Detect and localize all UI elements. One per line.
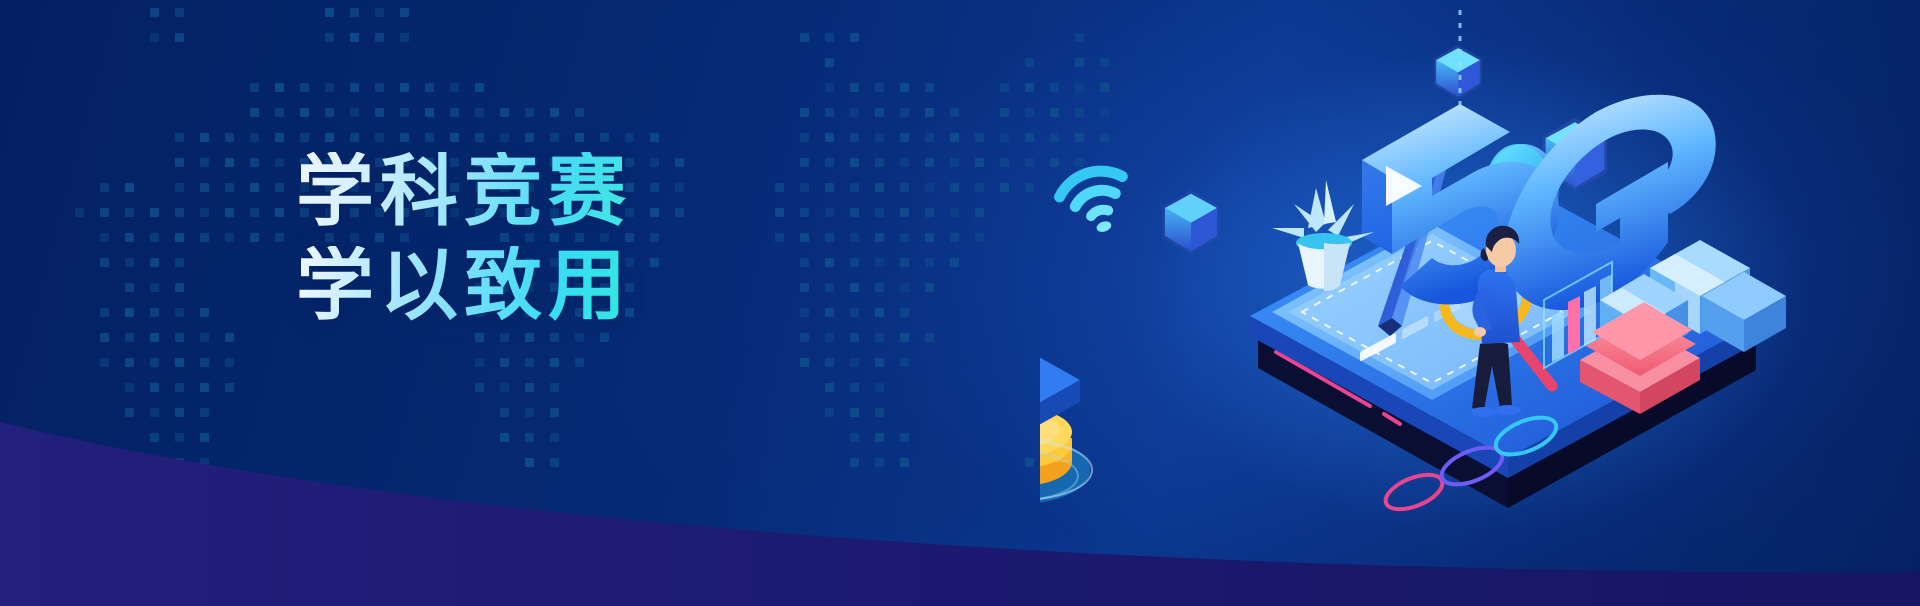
map-dot <box>875 133 884 142</box>
map-dot <box>900 208 909 217</box>
map-dot <box>925 283 934 292</box>
map-dot <box>825 58 834 67</box>
chart-bar <box>1568 296 1580 354</box>
map-dot <box>850 333 859 342</box>
map-dot <box>200 183 209 192</box>
map-dot <box>650 158 659 167</box>
map-dot <box>325 108 334 117</box>
map-dot <box>475 108 484 117</box>
map-dot <box>325 83 334 92</box>
map-dot <box>400 108 409 117</box>
map-dot <box>525 358 534 367</box>
map-dot <box>925 108 934 117</box>
map-dot <box>275 233 284 242</box>
map-dot <box>825 33 834 42</box>
map-dot <box>200 158 209 167</box>
map-dot <box>375 133 384 142</box>
coin-stack <box>1040 408 1092 504</box>
map-dot <box>800 358 809 367</box>
map-dot <box>325 33 334 42</box>
map-dot <box>450 108 459 117</box>
map-dot <box>175 233 184 242</box>
map-dot <box>250 158 259 167</box>
map-dot <box>900 158 909 167</box>
map-dot <box>875 233 884 242</box>
map-dot <box>950 233 959 242</box>
map-dot <box>1000 158 1009 167</box>
map-dot <box>200 358 209 367</box>
map-dot <box>125 283 134 292</box>
map-dot <box>800 283 809 292</box>
map-dot <box>250 133 259 142</box>
map-dot <box>800 108 809 117</box>
wifi-icon <box>1055 163 1137 241</box>
map-dot <box>150 358 159 367</box>
headline-line-2: 学以致用 <box>296 246 632 324</box>
map-dot <box>100 233 109 242</box>
map-dot <box>800 208 809 217</box>
map-dot <box>900 133 909 142</box>
chart-bar <box>1552 310 1564 362</box>
map-dot <box>100 208 109 217</box>
map-dot <box>900 308 909 317</box>
map-dot <box>850 258 859 267</box>
map-dot <box>150 33 159 42</box>
map-dot <box>925 83 934 92</box>
map-dot <box>600 133 609 142</box>
map-dot <box>1000 108 1009 117</box>
map-dot <box>925 208 934 217</box>
map-dot <box>400 133 409 142</box>
map-dot <box>575 108 584 117</box>
map-dot <box>175 333 184 342</box>
map-dot <box>425 108 434 117</box>
map-dot <box>225 333 234 342</box>
map-dot <box>875 108 884 117</box>
map-dot <box>825 233 834 242</box>
map-dot <box>825 283 834 292</box>
map-dot <box>350 8 359 17</box>
map-dot <box>850 158 859 167</box>
map-dot <box>825 333 834 342</box>
map-dot <box>275 83 284 92</box>
map-dot <box>850 233 859 242</box>
map-dot <box>175 8 184 17</box>
map-dot <box>275 108 284 117</box>
map-dot <box>975 133 984 142</box>
map-dot <box>475 333 484 342</box>
map-dot <box>900 333 909 342</box>
map-dot <box>225 233 234 242</box>
map-dot <box>900 183 909 192</box>
map-dot <box>775 183 784 192</box>
map-dot <box>100 333 109 342</box>
map-dot <box>1025 108 1034 117</box>
map-dot <box>175 258 184 267</box>
map-dot <box>475 133 484 142</box>
map-dot <box>900 258 909 267</box>
map-dot <box>975 183 984 192</box>
map-dot <box>500 133 509 142</box>
map-dot <box>650 183 659 192</box>
map-dot <box>875 333 884 342</box>
map-dot <box>125 308 134 317</box>
map-dot <box>100 183 109 192</box>
map-dot <box>375 108 384 117</box>
map-dot <box>650 208 659 217</box>
map-dot <box>175 283 184 292</box>
map-dot <box>350 83 359 92</box>
map-dot <box>550 333 559 342</box>
map-dot <box>650 133 659 142</box>
map-dot <box>450 133 459 142</box>
map-dot <box>175 33 184 42</box>
map-dot <box>850 83 859 92</box>
map-dot <box>150 8 159 17</box>
map-dot <box>925 333 934 342</box>
map-dot <box>800 308 809 317</box>
map-dot <box>1000 133 1009 142</box>
map-dot <box>900 108 909 117</box>
map-dot <box>250 208 259 217</box>
map-dot <box>1025 183 1034 192</box>
map-dot <box>775 233 784 242</box>
map-dot <box>400 8 409 17</box>
map-dot <box>175 158 184 167</box>
map-dot <box>950 183 959 192</box>
map-dot <box>900 283 909 292</box>
map-dot <box>550 358 559 367</box>
map-dot <box>875 358 884 367</box>
map-dot <box>250 183 259 192</box>
map-dot <box>850 108 859 117</box>
map-dot <box>800 133 809 142</box>
map-dot <box>525 108 534 117</box>
map-dot <box>875 158 884 167</box>
map-dot <box>375 83 384 92</box>
map-dot <box>225 158 234 167</box>
map-dot <box>300 83 309 92</box>
map-dot <box>650 233 659 242</box>
map-dot <box>675 158 684 167</box>
map-dot <box>175 183 184 192</box>
map-dot <box>375 8 384 17</box>
map-dot <box>825 83 834 92</box>
map-dot <box>850 133 859 142</box>
map-dot <box>150 333 159 342</box>
map-dot <box>1025 83 1034 92</box>
map-dot <box>125 233 134 242</box>
map-dot <box>325 8 334 17</box>
map-dot <box>825 183 834 192</box>
map-dot <box>150 283 159 292</box>
map-dot <box>1025 133 1034 142</box>
map-dot <box>125 358 134 367</box>
map-dot <box>350 108 359 117</box>
map-dot <box>800 183 809 192</box>
map-dot <box>775 208 784 217</box>
map-dot <box>575 358 584 367</box>
map-dot <box>300 133 309 142</box>
map-dot <box>500 108 509 117</box>
map-dot <box>950 133 959 142</box>
map-dot <box>675 208 684 217</box>
map-dot <box>200 233 209 242</box>
map-dot <box>175 308 184 317</box>
shoe <box>1471 407 1497 417</box>
map-dot <box>125 208 134 217</box>
map-dot <box>350 33 359 42</box>
map-dot <box>425 133 434 142</box>
map-dot <box>975 158 984 167</box>
map-dot <box>175 208 184 217</box>
map-dot <box>875 208 884 217</box>
map-dot <box>475 358 484 367</box>
map-dot <box>800 333 809 342</box>
map-dot <box>950 208 959 217</box>
map-dot <box>675 183 684 192</box>
map-dot <box>550 108 559 117</box>
map-dot <box>875 258 884 267</box>
map-dot <box>1000 83 1009 92</box>
map-dot <box>1000 183 1009 192</box>
map-dot <box>850 358 859 367</box>
map-dot <box>950 108 959 117</box>
map-dot <box>500 358 509 367</box>
map-dot <box>900 83 909 92</box>
headline-line-1: 学科竞赛 <box>296 152 632 230</box>
map-dot <box>100 258 109 267</box>
map-dot <box>850 183 859 192</box>
map-dot <box>150 208 159 217</box>
isometric-illustration <box>1040 0 1920 606</box>
map-dot <box>975 233 984 242</box>
map-dot <box>150 308 159 317</box>
map-dot <box>825 158 834 167</box>
map-dot <box>625 133 634 142</box>
map-dot <box>925 183 934 192</box>
map-dot <box>175 133 184 142</box>
map-dot <box>275 208 284 217</box>
map-dot <box>575 333 584 342</box>
map-dot <box>925 258 934 267</box>
map-dot <box>200 208 209 217</box>
map-dot <box>1025 58 1034 67</box>
map-dot <box>175 358 184 367</box>
map-dot <box>875 308 884 317</box>
map-dot <box>75 208 84 217</box>
map-dot <box>900 358 909 367</box>
map-dot <box>850 208 859 217</box>
map-dot <box>950 258 959 267</box>
map-dot <box>875 183 884 192</box>
map-dot <box>825 133 834 142</box>
map-dot <box>925 158 934 167</box>
map-dot <box>550 133 559 142</box>
chart-bar <box>1584 286 1596 346</box>
map-dot <box>850 33 859 42</box>
map-dot <box>800 158 809 167</box>
map-dot <box>650 258 659 267</box>
map-dot <box>800 233 809 242</box>
map-dot <box>950 158 959 167</box>
map-dot <box>825 258 834 267</box>
map-dot <box>100 308 109 317</box>
map-dot <box>150 258 159 267</box>
map-dot <box>800 258 809 267</box>
map-dot <box>850 283 859 292</box>
map-dot <box>900 233 909 242</box>
map-dot <box>400 33 409 42</box>
map-dot <box>825 208 834 217</box>
map-dot <box>850 308 859 317</box>
map-dot <box>825 308 834 317</box>
map-dot <box>800 33 809 42</box>
map-dot <box>575 133 584 142</box>
map-dot <box>875 283 884 292</box>
map-dot <box>150 233 159 242</box>
map-dot <box>200 133 209 142</box>
map-dot <box>100 358 109 367</box>
map-dot <box>400 83 409 92</box>
map-dot <box>225 183 234 192</box>
map-dot <box>275 133 284 142</box>
hand <box>1474 327 1486 337</box>
map-dot <box>925 133 934 142</box>
map-dot <box>250 83 259 92</box>
map-dot <box>975 208 984 217</box>
map-dot <box>275 183 284 192</box>
headline-block: 学科竞赛 学以致用 <box>296 152 632 324</box>
map-dot <box>525 133 534 142</box>
map-dot <box>825 108 834 117</box>
map-dot <box>225 133 234 142</box>
map-dot <box>925 233 934 242</box>
map-dot <box>125 258 134 267</box>
map-dot <box>600 333 609 342</box>
map-dot <box>275 158 284 167</box>
map-dot <box>325 133 334 142</box>
map-dot <box>500 333 509 342</box>
map-dot <box>125 333 134 342</box>
map-dot <box>1025 158 1034 167</box>
map-dot <box>300 108 309 117</box>
map-dot <box>475 83 484 92</box>
map-dot <box>375 33 384 42</box>
map-dot <box>875 83 884 92</box>
map-dot <box>350 133 359 142</box>
map-dot <box>200 308 209 317</box>
promo-banner: 学科竞赛 学以致用 <box>0 0 1920 606</box>
map-dot <box>525 333 534 342</box>
map-dot <box>225 358 234 367</box>
map-dot <box>450 83 459 92</box>
map-dot <box>250 108 259 117</box>
map-dot <box>425 83 434 92</box>
map-dot <box>125 183 134 192</box>
map-dot <box>200 333 209 342</box>
map-dot <box>225 208 234 217</box>
map-dot <box>250 233 259 242</box>
map-dot <box>825 358 834 367</box>
shoe <box>1495 405 1521 415</box>
